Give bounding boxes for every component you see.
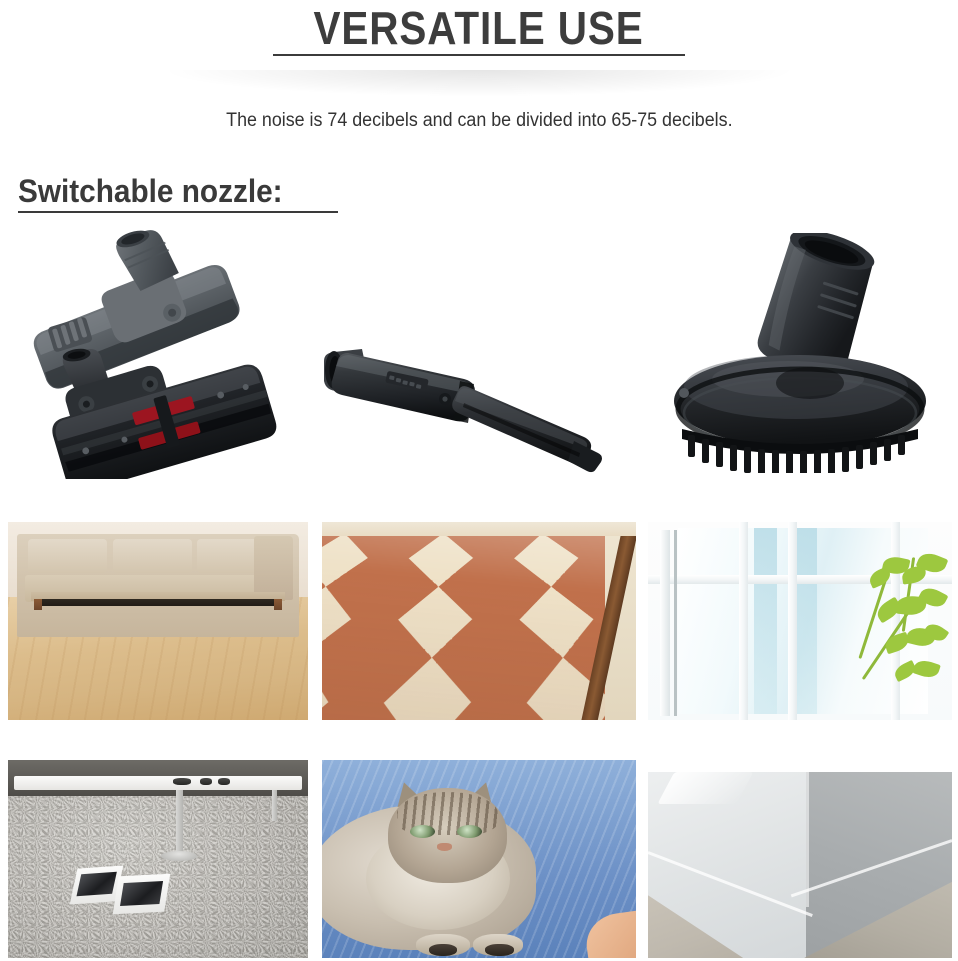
tile-top-edge <box>322 522 636 536</box>
window-pane-tint <box>794 528 817 714</box>
tile-top-edge <box>648 760 952 772</box>
page-title: VERSATILE USE <box>314 4 644 52</box>
photo-window <box>648 522 952 720</box>
window-plant <box>867 554 952 716</box>
magazine-photo <box>77 872 117 896</box>
section-heading-label: Switchable nozzle: <box>18 174 283 209</box>
photo-sofa <box>8 522 308 720</box>
window-frame-left <box>660 530 670 716</box>
photo-cat <box>322 760 636 958</box>
tile-corner-seam <box>806 760 809 907</box>
window-pane-tint <box>754 528 777 714</box>
table-leg <box>272 790 277 822</box>
magazine-photo <box>120 881 163 906</box>
sofa-back-cushion <box>28 539 107 573</box>
sofa-leg <box>34 599 42 610</box>
table-object <box>173 778 191 785</box>
coffee-table-top <box>14 776 302 790</box>
dusting-brush-nozzle-image <box>660 233 940 473</box>
sofa-body <box>17 534 299 637</box>
window-frame-edge <box>674 530 677 716</box>
gallery-row-2 <box>0 760 958 958</box>
window-mullion-vertical <box>788 522 797 720</box>
noise-subtitle: The noise is 74 decibels and can be divi… <box>226 110 732 132</box>
cat-paw-tip <box>485 944 513 956</box>
sofa-base-shadow <box>34 599 282 606</box>
table-object <box>200 778 212 785</box>
section-underline-rule <box>18 211 338 213</box>
sofa-armrest <box>254 536 293 600</box>
usage-photo-gallery <box>0 510 958 961</box>
floor-brush-nozzle-pair-image <box>22 227 292 479</box>
table-object <box>218 778 230 785</box>
gallery-row-1 <box>0 522 958 720</box>
table-pedestal-foot <box>161 851 197 861</box>
sofa-leg <box>274 599 282 610</box>
page-title-block: VERSATILE USE <box>0 4 958 56</box>
photo-tile-corner <box>648 760 952 958</box>
nozzle-product-row <box>0 225 958 483</box>
crevice-tool-nozzle-image <box>318 343 618 473</box>
cat-paw-tip <box>429 944 457 956</box>
sofa-back-cushion <box>113 539 192 573</box>
window-mullion-vertical <box>739 522 748 720</box>
page-header: VERSATILE USE The noise is 74 decibels a… <box>0 0 958 132</box>
switchable-nozzle-section: Switchable nozzle: <box>0 174 958 213</box>
photo-tile-floor <box>322 522 636 720</box>
title-shadow-gradient <box>169 70 789 96</box>
title-underline-rule <box>273 54 685 56</box>
photo-carpet <box>8 760 308 958</box>
sofa-back-cushion <box>197 539 259 573</box>
table-pedestal-leg <box>176 790 183 855</box>
magazine-page <box>113 874 171 914</box>
